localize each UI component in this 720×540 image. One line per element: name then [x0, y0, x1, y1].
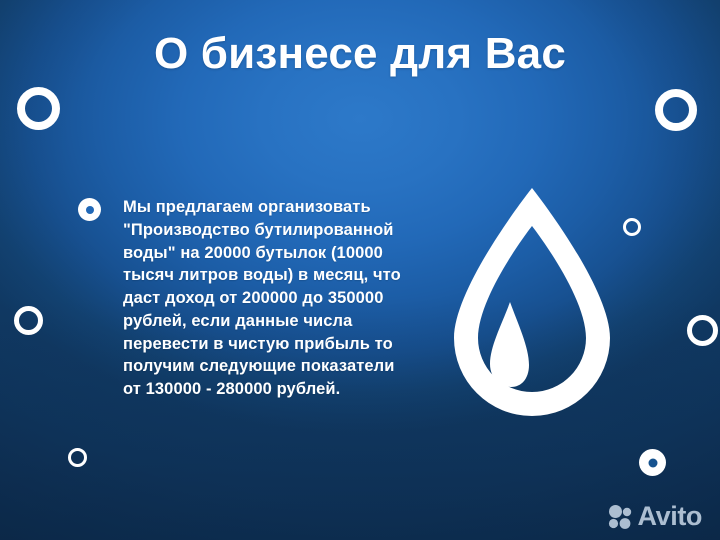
page-title: О бизнесе для Вас: [0, 30, 720, 78]
body-text: Мы предлагаем организовать "Производство…: [123, 196, 408, 401]
body-block: Мы предлагаем организовать "Производство…: [78, 196, 408, 401]
decorative-ring-small-right: [623, 218, 641, 236]
avito-watermark: Avito: [607, 503, 703, 530]
avito-wordmark: Avito: [638, 503, 703, 530]
avito-dots-logo-icon: [607, 504, 633, 530]
decorative-ring-mid-right: [687, 315, 718, 346]
decorative-ring-top-left: [17, 87, 60, 130]
decorative-ring-mid-left: [14, 306, 43, 335]
water-drop-icon: [442, 182, 622, 424]
decorative-donut-bottom-right: [639, 449, 666, 476]
bullet-donut-icon: [78, 198, 101, 221]
decorative-ring-small-left: [68, 448, 87, 467]
slide-canvas: О бизнесе для Вас Мы предлагаем организо…: [0, 0, 720, 540]
decorative-ring-top-right: [655, 89, 697, 131]
